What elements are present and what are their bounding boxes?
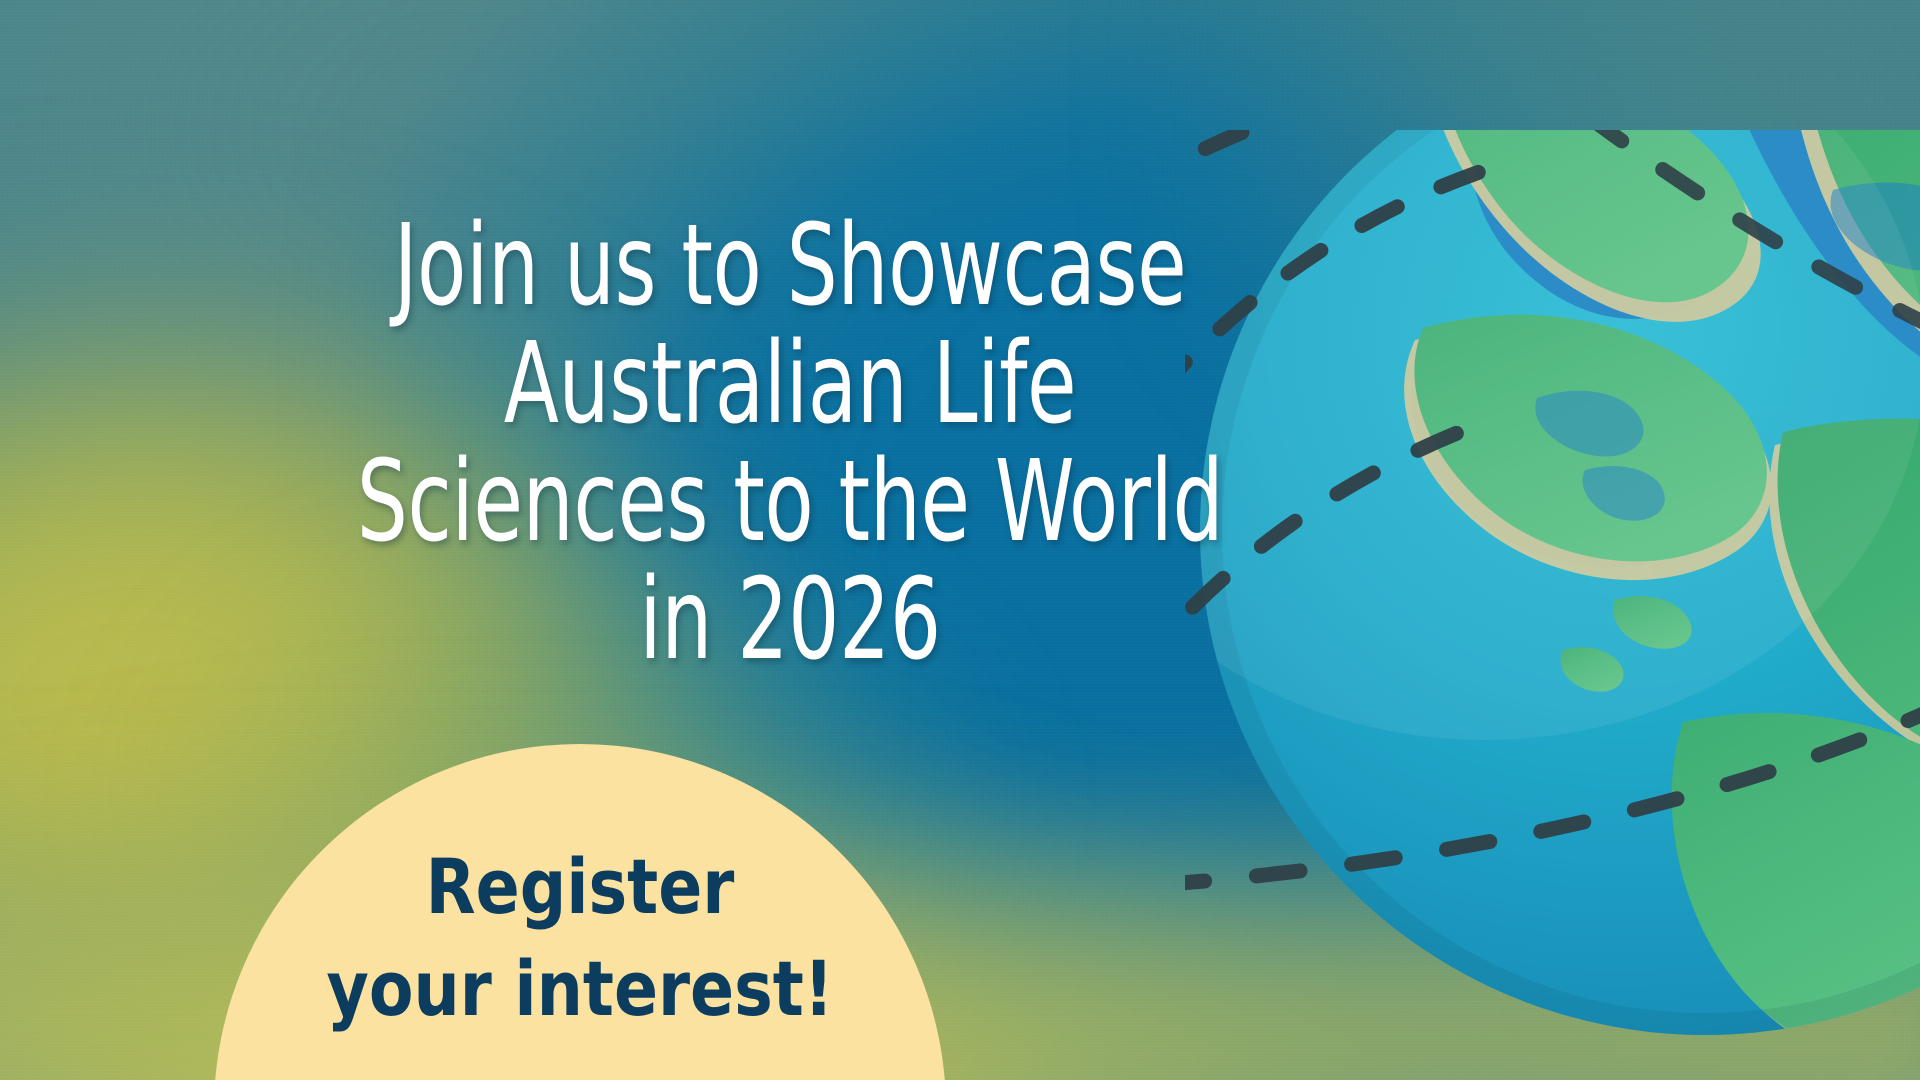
promo-banner: Join us to Showcase Australian Life Scie… (0, 0, 1920, 1080)
headline-line-3: Sciences to the World (294, 443, 1286, 561)
register-cta-line-2: your interest! (232, 938, 927, 1040)
register-cta-label[interactable]: Register your interest! (232, 836, 927, 1040)
headline: Join us to Showcase Australian Life Scie… (294, 207, 1286, 679)
headline-line-2: Australian Life (294, 325, 1286, 443)
headline-line-4: in 2026 (294, 561, 1286, 679)
register-cta-line-1: Register (232, 836, 927, 938)
headline-line-1: Join us to Showcase (294, 207, 1286, 325)
